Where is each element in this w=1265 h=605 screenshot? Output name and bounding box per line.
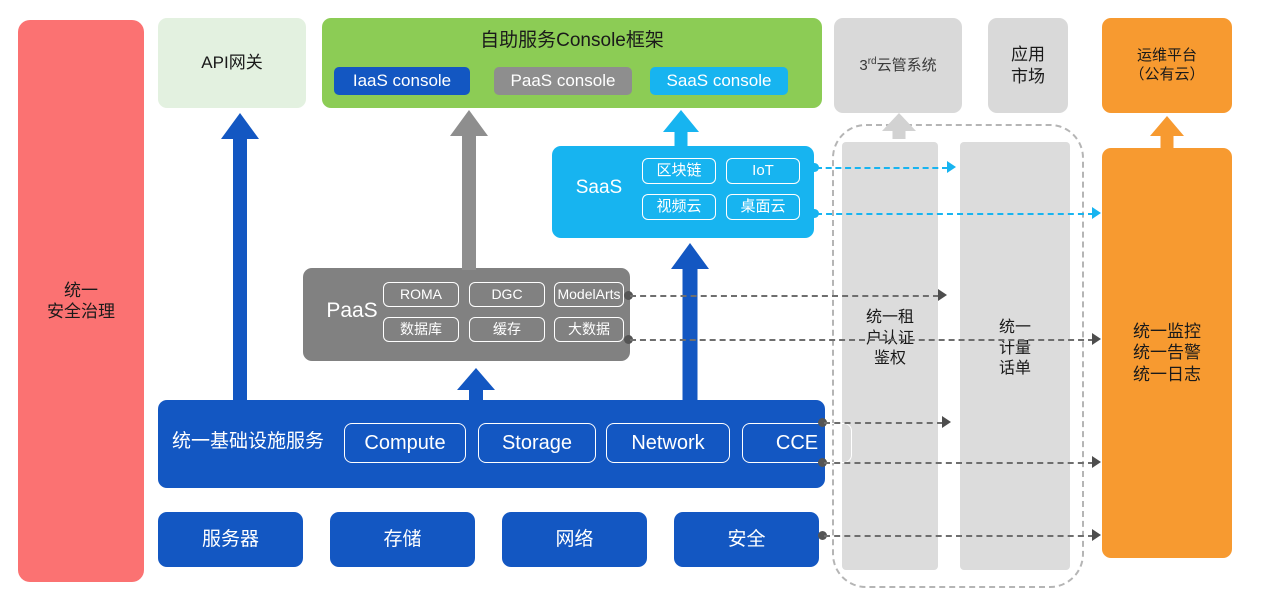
- unified-monitoring-label: 统一监控 统一告警 统一日志: [1133, 321, 1201, 385]
- paas-chip-dgc-label: DGC: [491, 286, 522, 304]
- arrow-infra-to-paas-icon: [457, 368, 495, 402]
- arrow-infra-to-saas-icon: [671, 243, 709, 403]
- saas-chip-iot-label: IoT: [752, 162, 774, 181]
- infra-chip-compute-label: Compute: [364, 431, 445, 456]
- iaas-console-pill[interactable]: IaaS console: [334, 67, 470, 95]
- dashed-saas-to-metering: [816, 167, 948, 169]
- hardware-box-storage-label: 存储: [383, 528, 421, 552]
- paas-chip-modelarts[interactable]: ModelArts: [554, 282, 624, 307]
- dashed-paas-to-auth: [630, 295, 939, 297]
- ops-platform-public-cloud-box[interactable]: 运维平台 （公有云）: [1102, 18, 1232, 113]
- app-market-label: 应用 市场: [1011, 44, 1045, 87]
- saas-chip-video-cloud[interactable]: 视频云: [642, 194, 716, 220]
- architecture-diagram: 统一 安全治理 API网关 自助服务Console框架 IaaS console…: [0, 0, 1265, 605]
- third-party-cloud-mgmt-box[interactable]: 3rd云管系统: [834, 18, 962, 113]
- third-party-cloud-mgmt-label: 3rd云管系统: [859, 56, 936, 76]
- hardware-box-network[interactable]: 网络: [502, 512, 647, 567]
- hardware-box-storage[interactable]: 存储: [330, 512, 475, 567]
- saas-console-label: SaaS console: [667, 70, 772, 91]
- paas-layer-box[interactable]: PaaS ROMA DGC ModelArts 数据库 缓存 大数据: [303, 268, 630, 361]
- infra-chip-storage[interactable]: Storage: [478, 423, 596, 463]
- paas-chip-roma-label: ROMA: [400, 286, 442, 304]
- api-gateway-box[interactable]: API网关: [158, 18, 306, 108]
- ordinal-suffix: rd: [868, 56, 877, 67]
- arrow-ops-main-to-ops-top-icon: [1150, 116, 1184, 150]
- unified-infrastructure-label: 统一基础设施服务: [172, 430, 324, 454]
- infra-chip-storage-label: Storage: [502, 431, 572, 456]
- dashed-hardware-to-ops: [824, 535, 1094, 537]
- saas-chip-blockchain-label: 区块链: [656, 162, 701, 181]
- arrow-common-to-third-party-icon: [882, 113, 916, 139]
- unified-metering-billing-column[interactable]: 统一 计量 话单: [960, 142, 1070, 570]
- paas-chip-dgc[interactable]: DGC: [469, 282, 545, 307]
- arrowhead-saas-to-ops-icon: [1092, 207, 1101, 219]
- dashed-paas-to-ops: [630, 339, 1094, 341]
- hardware-box-security-label: 安全: [727, 528, 765, 552]
- paas-chip-bigdata[interactable]: 大数据: [554, 317, 624, 342]
- arrow-saas-to-console-icon: [663, 110, 699, 150]
- unified-monitoring-column[interactable]: 统一监控 统一告警 统一日志: [1102, 148, 1232, 558]
- arrowhead-paas-to-ops-icon: [1092, 333, 1101, 345]
- ops-platform-public-cloud-label: 运维平台 （公有云）: [1129, 47, 1204, 85]
- unified-metering-billing-label: 统一 计量 话单: [999, 318, 1031, 380]
- saas-chip-iot[interactable]: IoT: [726, 158, 800, 184]
- saas-chip-video-cloud-label: 视频云: [656, 198, 701, 217]
- dashed-infra-to-ops: [824, 462, 1094, 464]
- security-governance-label: 统一 安全治理: [47, 280, 115, 323]
- paas-console-label: PaaS console: [511, 70, 616, 91]
- hardware-box-server[interactable]: 服务器: [158, 512, 303, 567]
- infra-chip-cce-label: CCE: [776, 431, 818, 456]
- infra-chip-network[interactable]: Network: [606, 423, 730, 463]
- hardware-box-network-label: 网络: [555, 528, 593, 552]
- dashed-infra-to-auth: [824, 422, 943, 424]
- saas-chip-desktop-cloud[interactable]: 桌面云: [726, 194, 800, 220]
- saas-layer-label: SaaS: [566, 176, 632, 200]
- paas-chip-cache[interactable]: 缓存: [469, 317, 545, 342]
- infra-chip-compute[interactable]: Compute: [344, 423, 466, 463]
- hardware-box-security[interactable]: 安全: [674, 512, 819, 567]
- infra-chip-cce[interactable]: CCE: [742, 423, 852, 463]
- paas-chip-database[interactable]: 数据库: [383, 317, 459, 342]
- paas-chip-cache-label: 缓存: [493, 321, 521, 339]
- arrowhead-infra-to-ops-icon: [1092, 456, 1101, 468]
- saas-layer-box[interactable]: SaaS 区块链 IoT 视频云 桌面云: [552, 146, 814, 238]
- security-governance-pillar[interactable]: 统一 安全治理: [18, 20, 144, 582]
- console-framework-box[interactable]: 自助服务Console框架 IaaS console PaaS console …: [322, 18, 822, 108]
- arrowhead-saas-to-metering-icon: [947, 161, 956, 173]
- arrowhead-infra-to-auth-icon: [942, 416, 951, 428]
- paas-chip-modelarts-label: ModelArts: [557, 286, 620, 304]
- console-framework-title: 自助服务Console框架: [322, 29, 822, 53]
- app-market-box[interactable]: 应用 市场: [988, 18, 1068, 113]
- paas-chip-database-label: 数据库: [400, 321, 442, 339]
- saas-chip-desktop-cloud-label: 桌面云: [740, 198, 785, 217]
- infra-chip-network-label: Network: [631, 431, 704, 456]
- unified-tenant-auth-column[interactable]: 统一租 户认证 鉴权: [842, 142, 938, 570]
- arrow-infra-to-api-gateway-icon: [221, 113, 259, 401]
- paas-chip-roma[interactable]: ROMA: [383, 282, 459, 307]
- arrowhead-paas-to-auth-icon: [938, 289, 947, 301]
- arrow-paas-to-console-icon: [450, 110, 488, 270]
- paas-layer-label: PaaS: [313, 298, 391, 324]
- api-gateway-label: API网关: [201, 52, 262, 73]
- dashed-saas-to-ops: [816, 213, 1094, 215]
- iaas-console-label: IaaS console: [353, 70, 451, 91]
- paas-chip-bigdata-label: 大数据: [568, 321, 610, 339]
- unified-infrastructure-box[interactable]: 统一基础设施服务 Compute Storage Network CCE: [158, 400, 825, 488]
- saas-console-pill[interactable]: SaaS console: [650, 67, 788, 95]
- hardware-box-server-label: 服务器: [202, 528, 259, 552]
- paas-console-pill[interactable]: PaaS console: [494, 67, 632, 95]
- saas-chip-blockchain[interactable]: 区块链: [642, 158, 716, 184]
- arrowhead-hardware-to-ops-icon: [1092, 529, 1101, 541]
